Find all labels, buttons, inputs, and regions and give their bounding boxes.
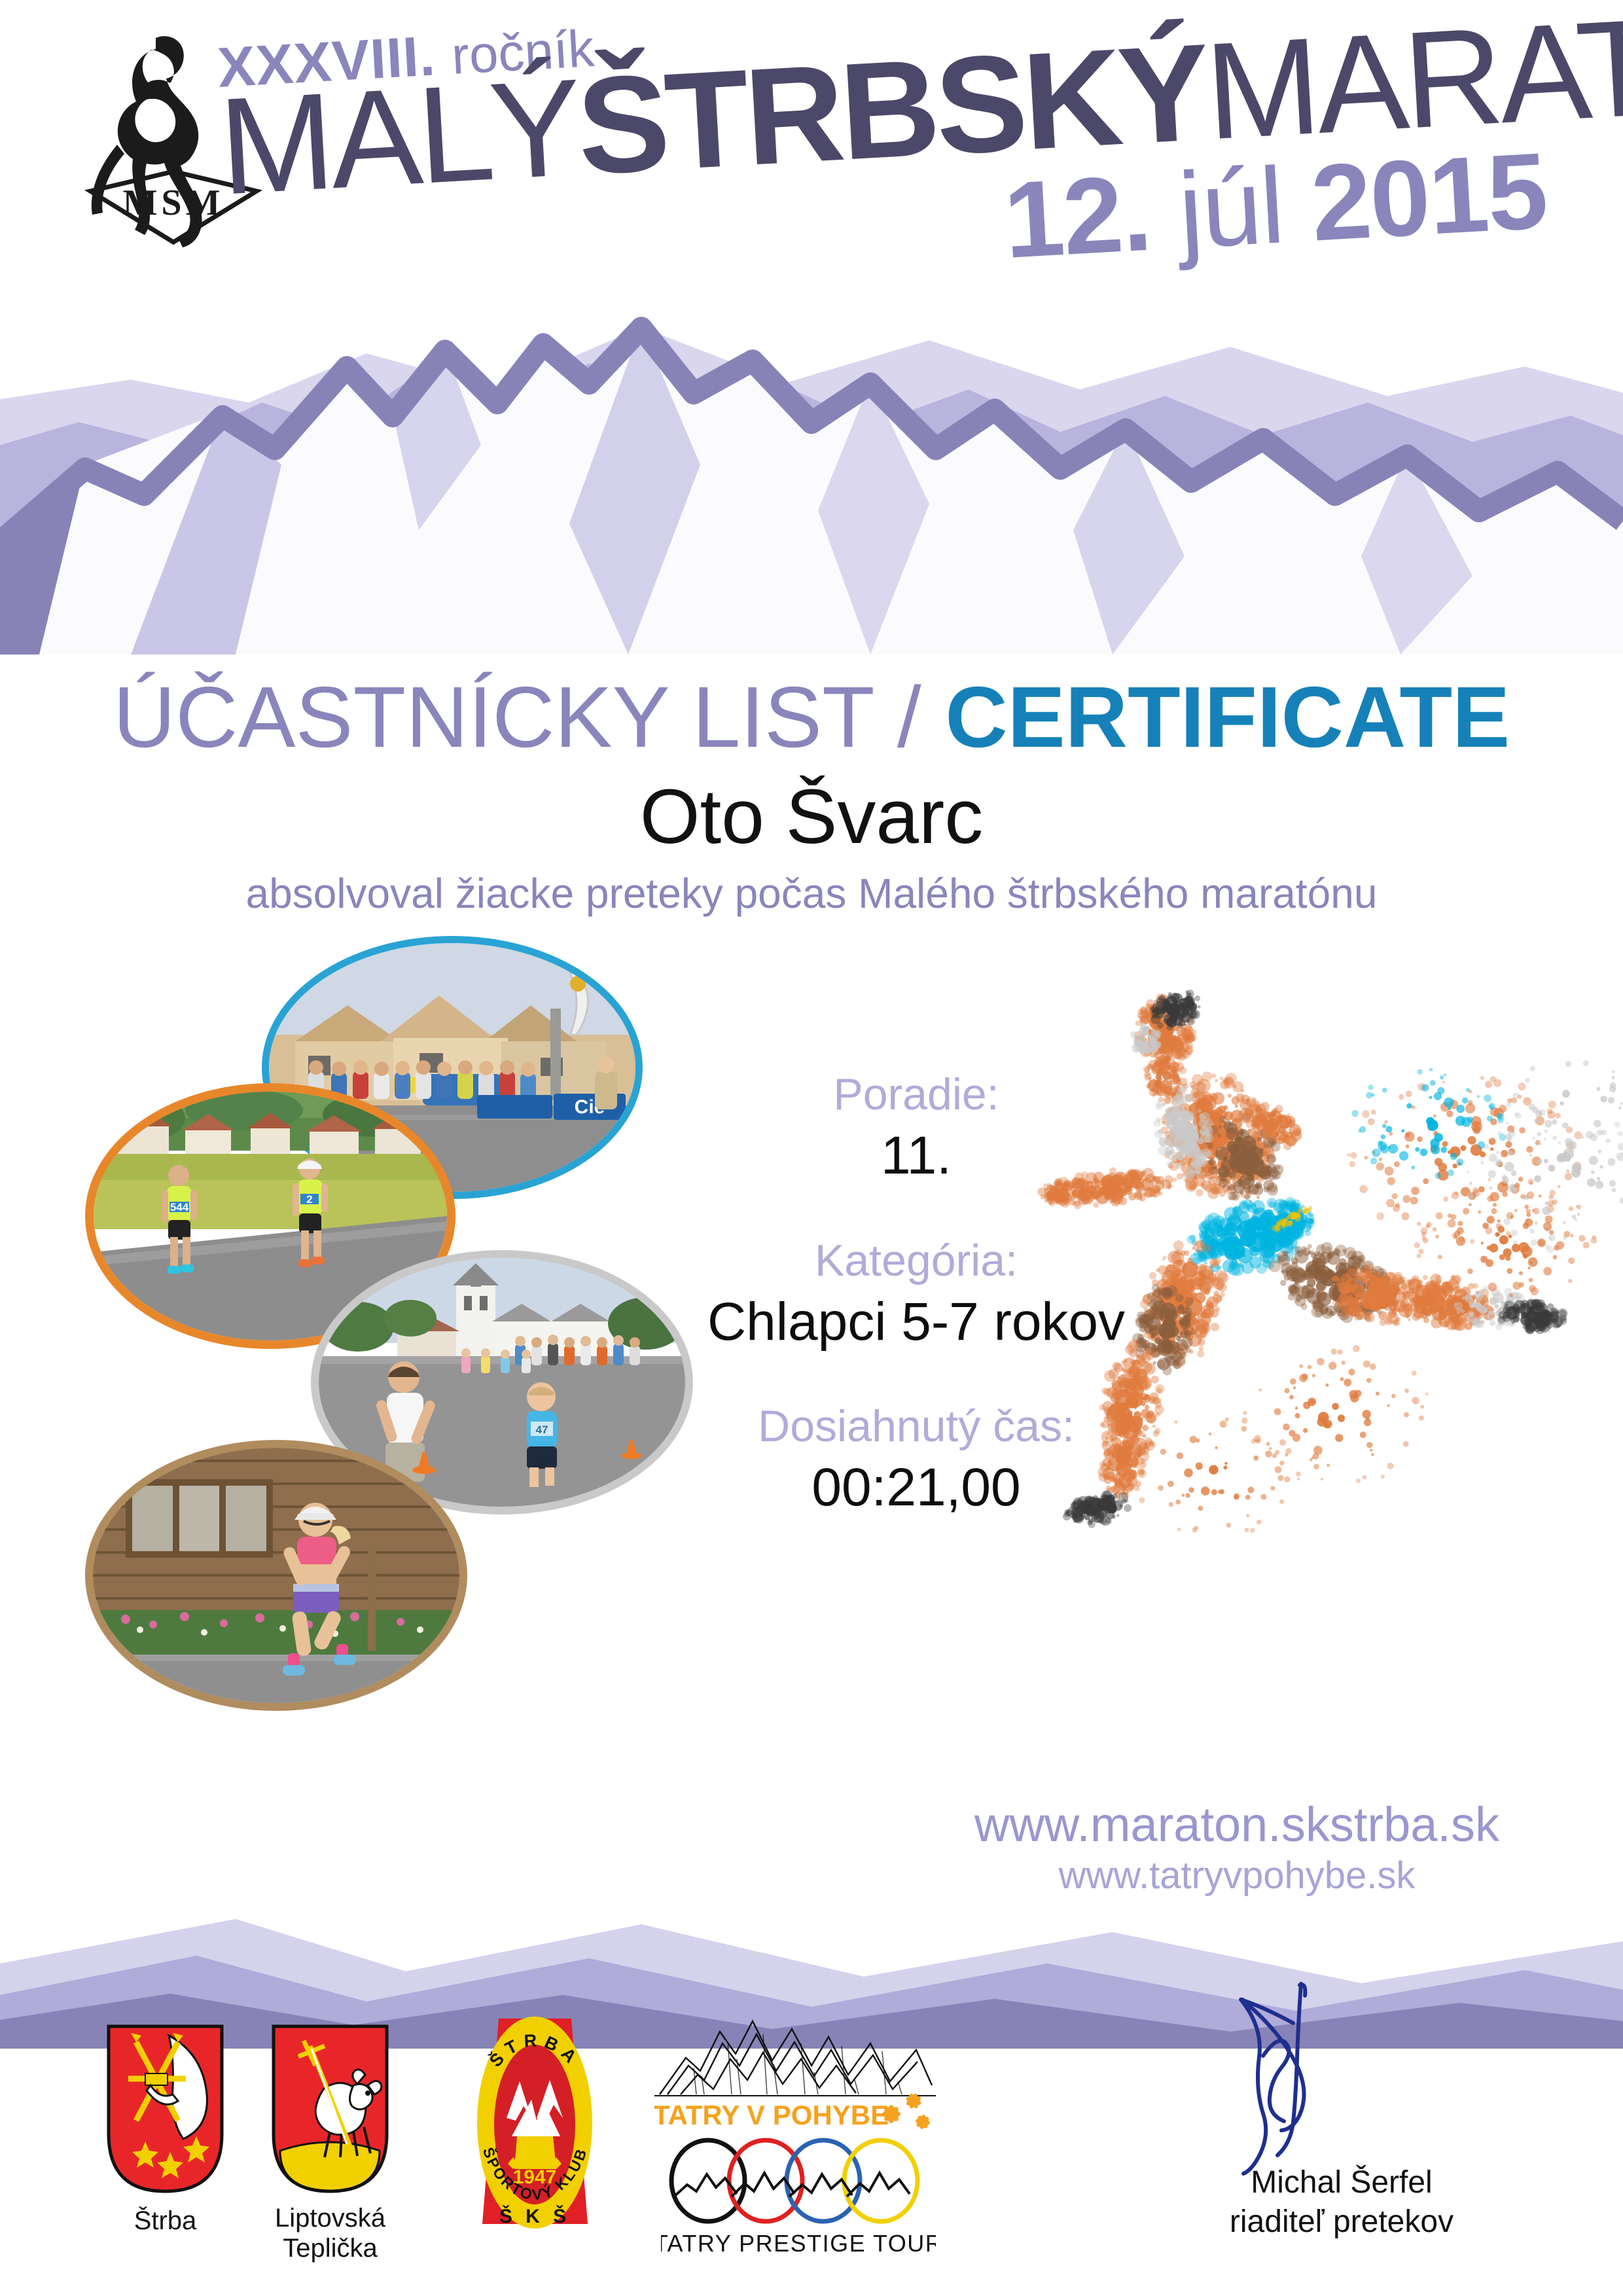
results-spacer-1 [641,1190,1191,1233]
website-links: www.maraton.skstrba.sk www.tatryvpohybe.… [910,1797,1564,1900]
coat-of-arms-liptovska-teplicka-label: Liptovská Teplička [243,2203,417,2263]
svg-text:MSM: MSM [123,183,224,223]
tatry-v-pohybe-logo: TATRY V POHYBE [654,2003,936,2134]
certificate-page: MSM XXXVIII. ročník MALÝŠTRBSKÝMARATÓN 1… [0,0,1623,2296]
svg-text:47: 47 [536,1424,548,1436]
page-title: ÚČASTNÍCKY LIST / CERTIFICATE [0,674,1623,761]
rank-value: 11. [641,1122,1191,1190]
category-value: Chlapci 5-7 rokov [641,1289,1191,1356]
svg-text:544: 544 [170,1201,189,1213]
lt-label-line1: Liptovská [243,2203,417,2233]
header: MSM XXXVIII. ročník MALÝŠTRBSKÝMARATÓN 1… [0,0,1623,308]
svg-text:2: 2 [306,1193,312,1206]
signature-caption: Michal Šerfel riaditeľ pretekov [1113,2163,1571,2242]
date-day: 12. [1001,152,1153,281]
rank-label: Poradie: [641,1067,1191,1122]
date-year: 2015 [1308,130,1550,264]
lt-label-line2: Teplička [243,2233,417,2263]
event-date: 12. júl 2015 [1001,137,1549,275]
time-label: Dosiahnutý čas: [641,1399,1191,1454]
participant-name: Oto Švarc [0,772,1623,861]
results-block: Poradie: 11. Kategória: Chlapci 5-7 roko… [641,1067,1191,1522]
page-title-sk: ÚČASTNÍCKY LIST [113,669,873,765]
sks-bottom-text: Š K Š [499,2205,570,2227]
primary-website-link[interactable]: www.maraton.skstrba.sk [910,1797,1564,1852]
participant-subtitle: absolvoval žiacke preteky počas Malého š… [0,869,1623,918]
title-part-maly: MALÝ [215,50,582,223]
photo-woman-runner [85,1440,467,1711]
mountain-range-graphic [0,249,1623,655]
tatry-prestige-tour-label: TATRY PRESTIGE TOUR [661,2230,936,2257]
date-month: júl [1175,145,1286,271]
photo-collage: Cie [85,936,674,1839]
results-spacer-2 [641,1355,1191,1399]
coat-of-arms-strba [105,2022,226,2196]
page-title-en: CERTIFICATE [945,669,1510,765]
category-label: Kategória: [641,1233,1191,1289]
coat-of-arms-strba-label: Štrba [85,2206,245,2236]
signature-name: Michal Šerfel [1113,2163,1571,2202]
tatry-v-pohybe-label: TATRY V POHYBE [654,2100,889,2130]
page-title-separator: / [897,669,921,765]
footer: Štrba Liptovská [0,1996,1623,2271]
tatry-prestige-tour-logo: TATRY PRESTIGE TOUR [661,2134,936,2265]
time-value: 00:21,00 [641,1454,1191,1522]
secondary-website-link[interactable]: www.tatryvpohybe.sk [910,1852,1564,1900]
coat-of-arms-liptovska-teplicka [270,2022,391,2196]
director-signature [1178,1973,1453,2189]
sks-club-emblem: 1947 ŠTRBA ŠPORTOVÝ KLUB Š K Š [452,2008,618,2250]
photo-woman-runner-image [93,1448,459,1703]
signature-role: riaditeľ pretekov [1113,2202,1571,2242]
